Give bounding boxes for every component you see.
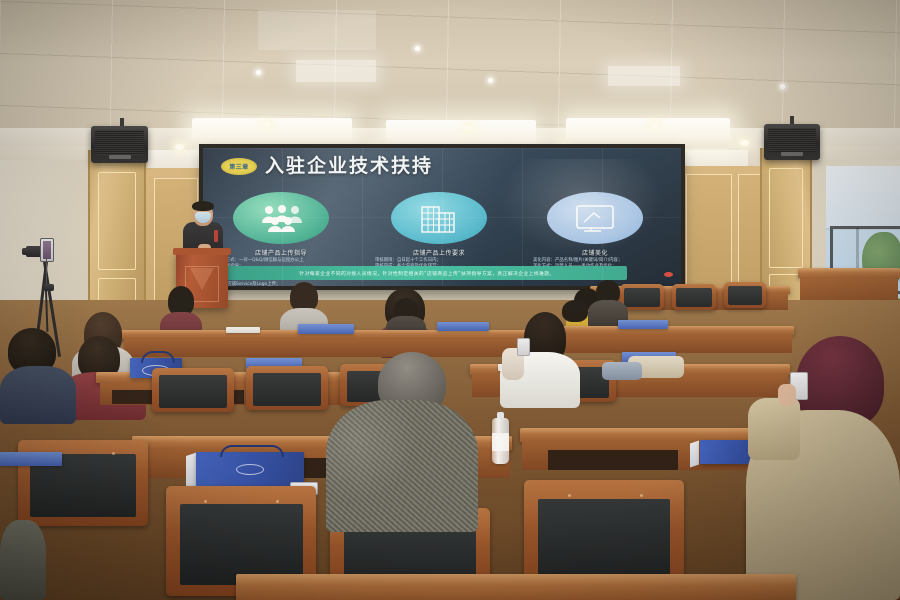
- gift-bag-logo: [236, 464, 264, 475]
- speaker-badge: [109, 155, 131, 159]
- cloth-on-desk: [602, 362, 642, 380]
- speaker-badge: [781, 152, 803, 156]
- notebook[interactable]: [226, 327, 260, 333]
- desk-row-3b: [556, 326, 794, 335]
- chair-stud: [640, 494, 643, 497]
- chair-stud: [568, 494, 571, 497]
- ceiling-light-flush: [296, 60, 376, 82]
- blue-gift-bag[interactable]: [437, 322, 489, 331]
- ceiling-downlight: [175, 144, 184, 150]
- person-clothing: [0, 520, 46, 600]
- blue-gift-bag[interactable]: [298, 324, 354, 334]
- ceiling-light-panel: [192, 118, 352, 148]
- speaker-grill: [768, 128, 816, 152]
- ceiling-downlight: [262, 122, 271, 128]
- ceiling-downlight: [415, 46, 420, 51]
- window-blinds: [826, 166, 900, 230]
- chair-stud: [276, 500, 279, 503]
- chair-pad: [676, 288, 712, 307]
- column-inlay: [98, 172, 136, 270]
- gift-bag-side: [690, 441, 699, 468]
- ceiling-downlight: [780, 84, 785, 89]
- gift-bag-handle: [220, 445, 284, 457]
- ceiling-light-panel: [386, 120, 536, 150]
- gift-bag-handle: [141, 351, 174, 363]
- blue-gift-bag[interactable]: [196, 452, 304, 486]
- wall-speaker-left: [91, 126, 148, 163]
- ceiling-light-flush: [608, 66, 680, 86]
- ceiling-light-panel: [566, 118, 730, 148]
- phone-screen: [43, 241, 51, 259]
- side-cabinet: [798, 268, 900, 278]
- bottle-label: [492, 433, 509, 451]
- person-hand: [778, 384, 796, 406]
- ceiling-downlight: [256, 70, 261, 75]
- bottle-cap: [497, 412, 504, 419]
- desk-row-3b-front: [558, 335, 792, 353]
- blue-gift-bag[interactable]: [618, 320, 668, 329]
- conference-room-photo: 第三章 入驻企业技术扶持: [0, 0, 900, 600]
- ceiling-downlight: [740, 140, 749, 146]
- presenter-hair: [192, 201, 214, 211]
- led-panel-seams: [203, 148, 681, 286]
- column-inlay: [769, 168, 803, 268]
- person-arm: [748, 398, 800, 460]
- chair-pad: [180, 504, 303, 585]
- ceiling-downlight: [650, 122, 659, 128]
- conference-chair[interactable]: [246, 366, 328, 410]
- chair-pad: [253, 373, 320, 406]
- chair-pad: [728, 286, 762, 305]
- person-clothing: [0, 366, 76, 424]
- chair-pad: [159, 375, 226, 408]
- water-bottle[interactable]: [492, 418, 509, 464]
- ceiling-tile: [258, 10, 376, 50]
- presenter-lanyard: [214, 230, 218, 242]
- wall-speaker-right: [764, 124, 820, 160]
- conference-chair[interactable]: [724, 282, 766, 308]
- chair-pad: [624, 288, 660, 307]
- camera-lens-hood: [22, 248, 29, 255]
- desk-row-front-edge: [236, 574, 796, 600]
- person-clothing: [326, 400, 478, 532]
- podium-top: [173, 248, 231, 255]
- chair-stud: [112, 452, 115, 455]
- person-hair: [562, 300, 588, 322]
- ceiling-downlight: [488, 78, 493, 83]
- desk-row-3-front: [124, 339, 538, 357]
- chair-stud: [204, 500, 207, 503]
- ceiling-downlight: [465, 125, 474, 131]
- speaker-grill: [95, 130, 144, 155]
- blue-gift-bag[interactable]: [0, 452, 62, 466]
- podium-emblem: [190, 268, 214, 290]
- conference-chair[interactable]: [152, 368, 234, 412]
- led-video-wall[interactable]: 第三章 入驻企业技术扶持: [203, 148, 681, 286]
- conference-chair[interactable]: [672, 284, 716, 310]
- desk-shelf: [548, 450, 678, 470]
- smartphone-in-hand[interactable]: [517, 338, 530, 356]
- camera-battery-pack: [44, 284, 54, 291]
